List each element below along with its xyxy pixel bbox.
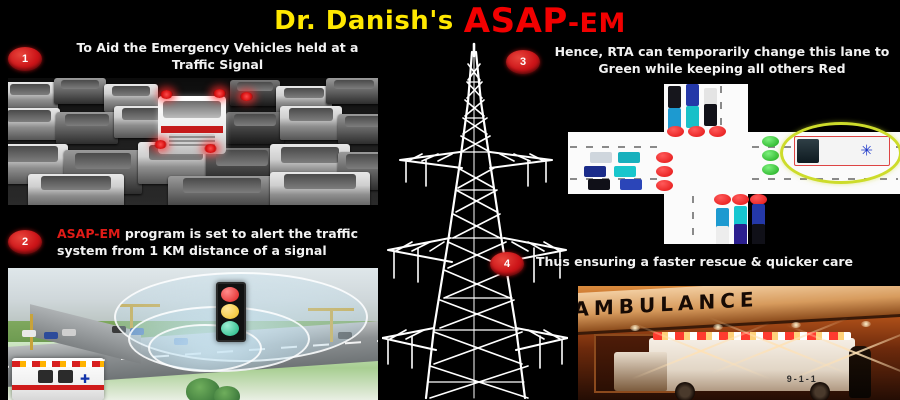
highlight-ellipse xyxy=(780,122,900,184)
step-badge-1: 1 xyxy=(8,47,42,71)
car xyxy=(28,174,124,205)
queued-car xyxy=(704,104,717,126)
infographic-canvas: Dr. Danish's ASAP-EM 1 To Aid the Emerge… xyxy=(0,0,900,400)
signal-dot-red xyxy=(667,126,684,137)
panel-intersection-diagram: ✳ xyxy=(568,84,900,244)
minicar xyxy=(62,329,76,336)
queued-car xyxy=(752,204,765,226)
queued-car xyxy=(584,166,606,177)
lane-divider xyxy=(570,178,662,180)
signal-dot-green xyxy=(762,164,779,175)
queued-car xyxy=(716,226,729,244)
minicar xyxy=(44,332,58,339)
panel-hospital-bay: AMBULANCE 9-1-1 xyxy=(578,286,900,400)
ambulance-lightbar xyxy=(12,361,104,367)
traffic-light-icon xyxy=(216,282,246,342)
ceiling-light-icon xyxy=(630,325,640,331)
ambulance-lightbar xyxy=(653,332,851,340)
tree xyxy=(214,386,240,400)
signal-dot-red xyxy=(709,126,726,137)
queued-car xyxy=(620,179,642,190)
star-of-life-icon: ✚ xyxy=(80,372,90,386)
emergency-beacon-icon xyxy=(160,90,173,99)
ambulance-number: 9-1-1 xyxy=(787,374,818,384)
car xyxy=(270,172,370,205)
car xyxy=(338,114,378,144)
step-caption-2: ASAP-EM program is set to alert the traf… xyxy=(57,226,377,260)
queued-car xyxy=(590,152,612,163)
step-number-2: 2 xyxy=(22,236,28,248)
car xyxy=(230,80,280,106)
car xyxy=(226,112,284,144)
car xyxy=(280,106,342,140)
car xyxy=(56,112,118,144)
queued-car xyxy=(734,224,747,244)
panel-traffic-jam xyxy=(8,78,378,205)
signal-dot-red xyxy=(656,166,673,177)
signal-dot-green xyxy=(762,136,779,147)
step-badge-2: 2 xyxy=(8,230,42,254)
step-number-3: 3 xyxy=(520,56,526,68)
title-brand: ASAP-EM xyxy=(464,1,626,41)
panel-signal-alert: ✚ xyxy=(8,268,378,400)
traffic-light-green-lamp xyxy=(221,321,239,336)
lane-divider xyxy=(570,146,662,148)
wheel xyxy=(675,382,695,400)
queued-car xyxy=(686,106,699,128)
transmission-tower-icon xyxy=(382,42,568,400)
step-caption-2-highlight: ASAP-EM xyxy=(57,226,120,241)
page-title: Dr. Danish's ASAP-EM xyxy=(0,0,900,42)
lane-divider xyxy=(720,86,722,130)
ambulance-window xyxy=(38,370,53,383)
emergency-beacon-icon xyxy=(204,144,217,153)
traffic-light-red-lamp xyxy=(221,287,239,302)
queued-car xyxy=(618,152,640,163)
person-silhouette xyxy=(849,346,871,398)
queued-car xyxy=(614,166,636,177)
queued-car xyxy=(668,86,681,108)
car xyxy=(8,108,60,140)
lane-divider xyxy=(692,196,694,242)
ambulance-cab xyxy=(614,352,668,391)
step-caption-3: Hence, RTA can temporarily change this l… xyxy=(550,44,894,78)
title-owner: Dr. Danish's xyxy=(274,6,454,36)
ambulance-window xyxy=(58,370,73,383)
ambulance-stripe xyxy=(12,385,104,390)
emergency-beacon-icon xyxy=(213,89,226,98)
queued-car xyxy=(686,84,699,106)
step-caption-1: To Aid the Emergency Vehicles held at a … xyxy=(55,40,380,74)
wheel xyxy=(810,382,830,400)
title-brand-main: ASAP xyxy=(464,1,568,41)
step-number-4: 4 xyxy=(504,258,510,270)
signal-dot-red xyxy=(714,194,731,205)
ambulance-stripe xyxy=(161,126,224,133)
signal-dot-red xyxy=(732,194,749,205)
signal-dot-red xyxy=(656,152,673,163)
queued-car xyxy=(588,179,610,190)
signal-dot-red xyxy=(656,180,673,191)
car xyxy=(168,176,276,205)
step-caption-4: Thus ensuring a faster rescue & quicker … xyxy=(536,254,892,271)
signal-dot-red xyxy=(688,126,705,137)
traffic-light-yellow-lamp xyxy=(221,304,239,319)
ambulance-approaching: ✚ xyxy=(12,358,104,400)
ambulance-sign-text: AMBULANCE xyxy=(578,287,758,321)
minicar xyxy=(22,330,36,337)
queued-car xyxy=(752,224,765,244)
signal-dot-green xyxy=(762,150,779,161)
ceiling-light-icon xyxy=(713,324,723,330)
title-brand-sub: -EM xyxy=(568,8,626,39)
emergency-beacon-icon xyxy=(240,92,253,101)
car xyxy=(54,78,106,104)
ambulance-windshield xyxy=(163,101,220,118)
step-number-1: 1 xyxy=(22,53,28,65)
car xyxy=(326,78,378,104)
panel-signal-tower xyxy=(382,42,568,400)
step-badge-4: 4 xyxy=(490,252,524,276)
emergency-beacon-icon xyxy=(154,140,167,149)
step-badge-3: 3 xyxy=(506,50,540,74)
